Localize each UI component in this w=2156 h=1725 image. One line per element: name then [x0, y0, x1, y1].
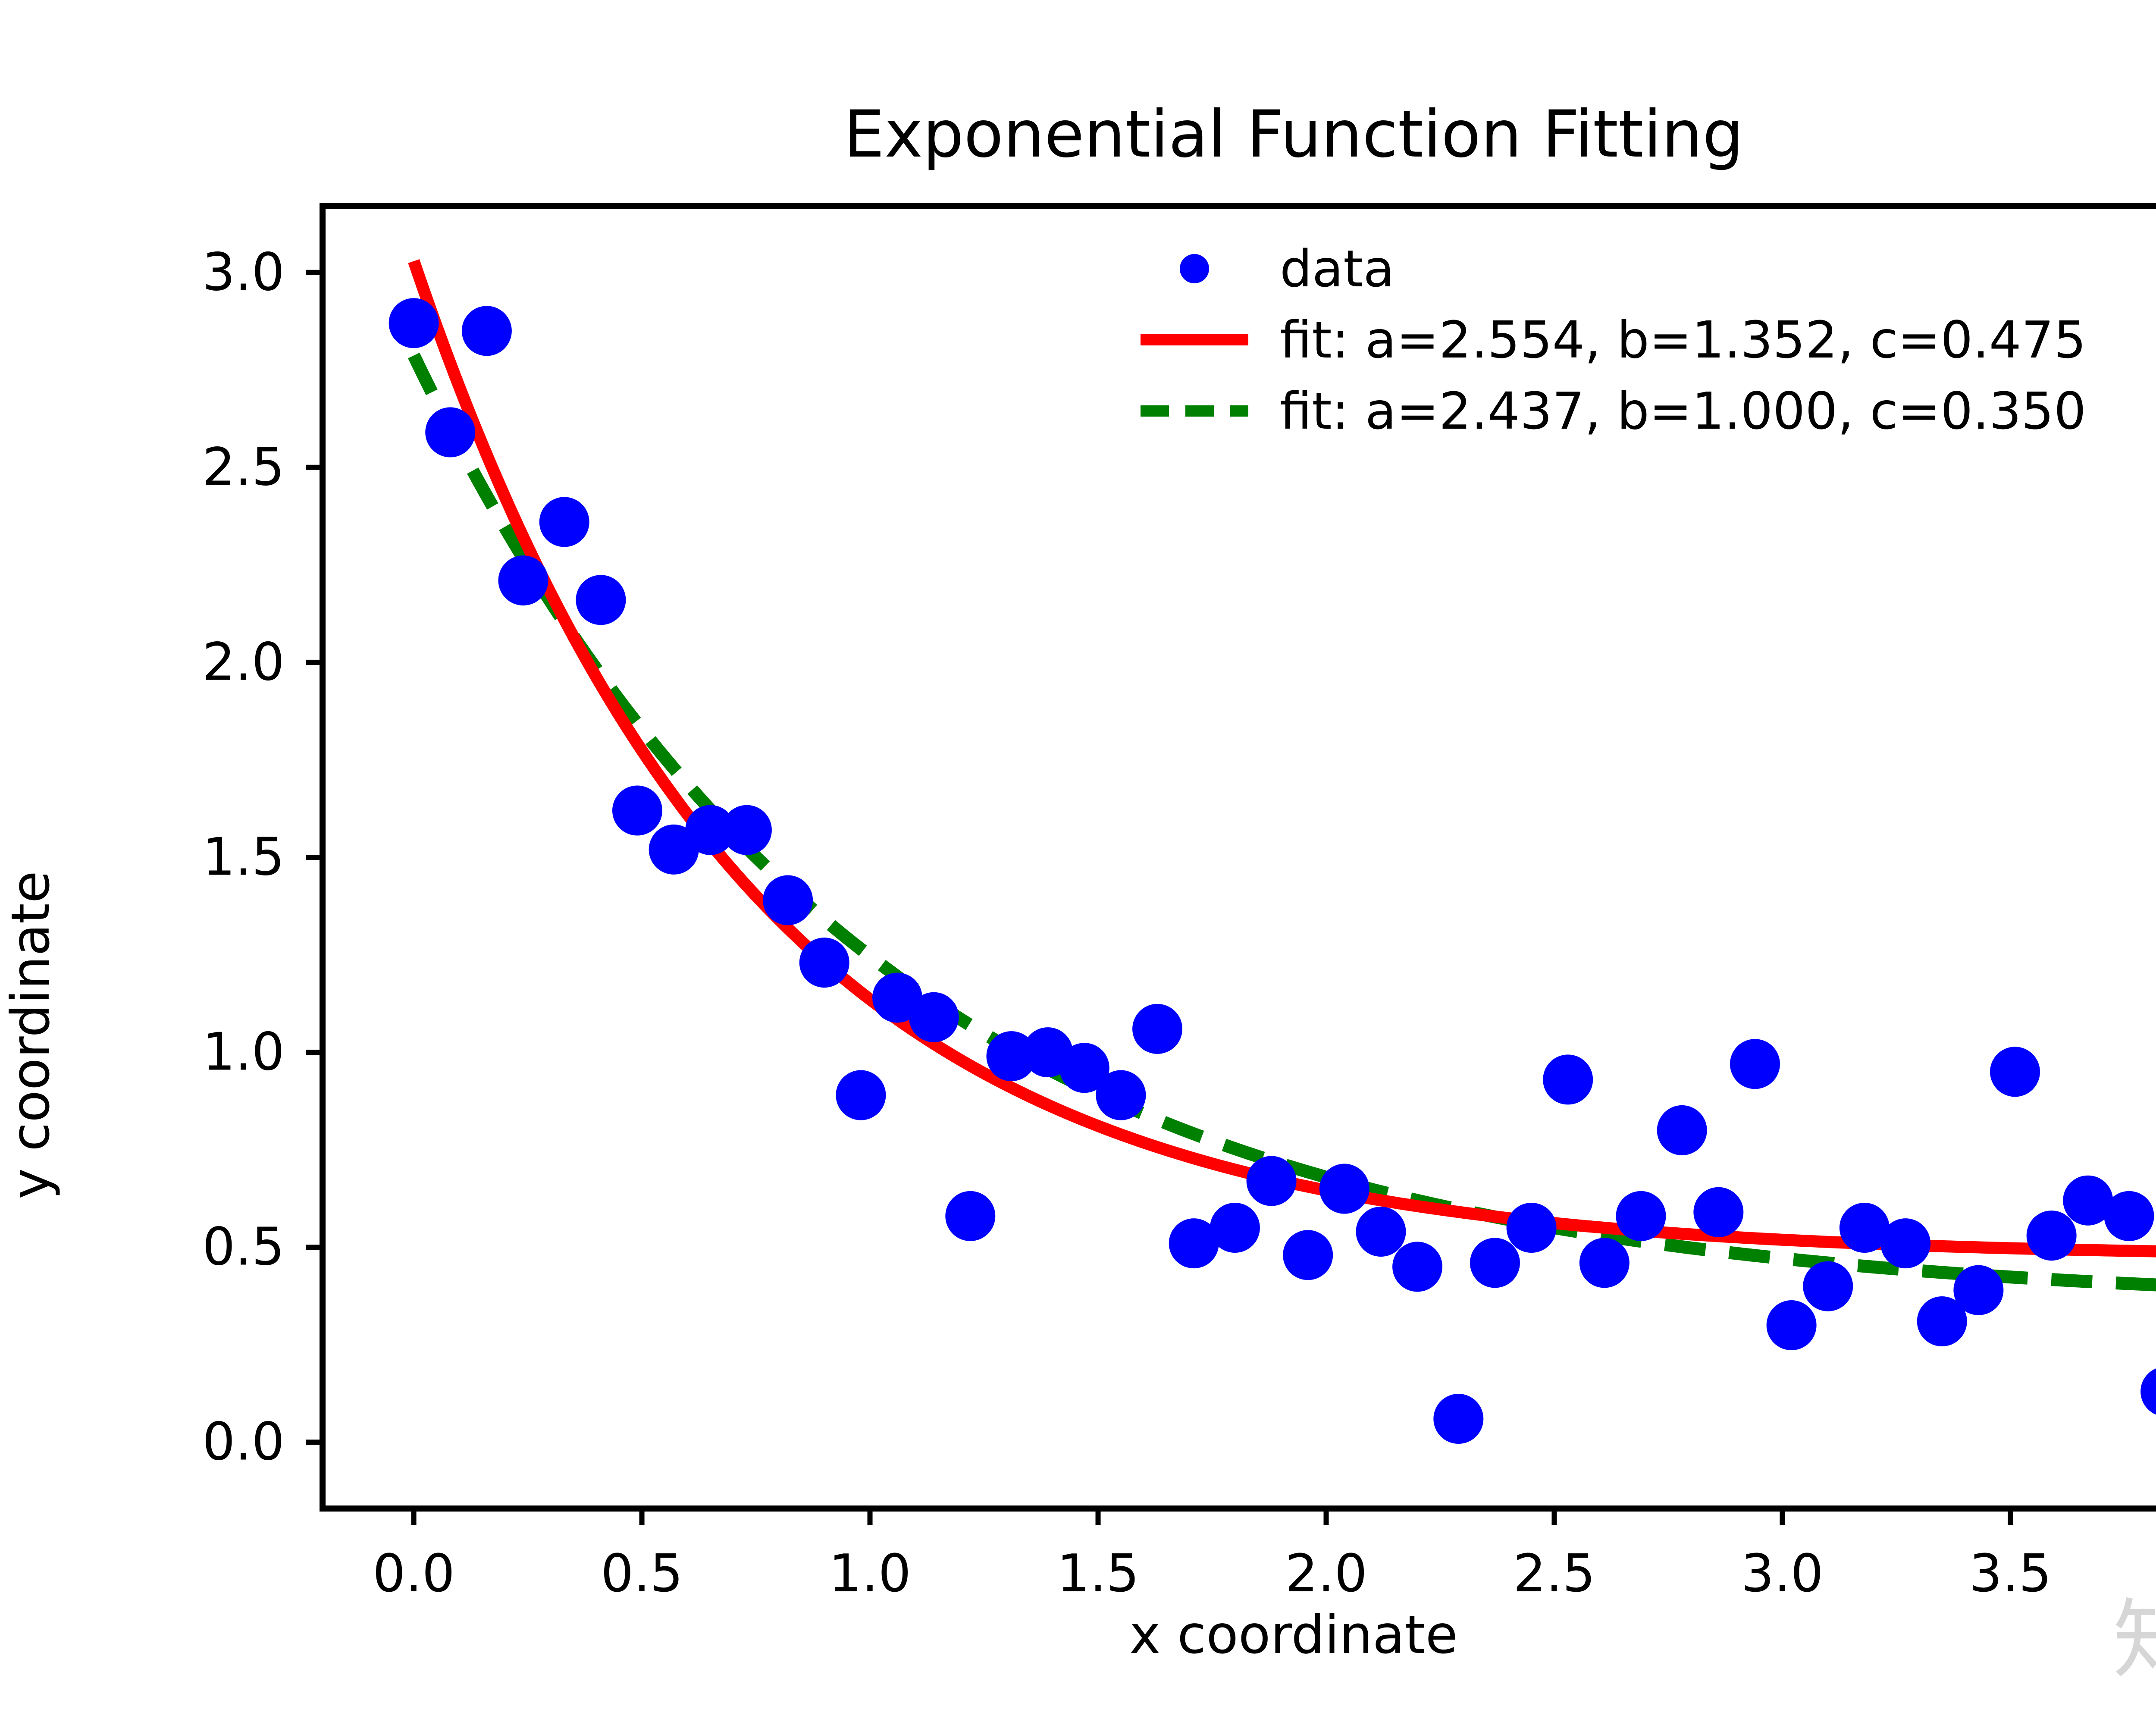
- legend-label-data: data: [1280, 239, 1395, 298]
- y-axis-label: y coordinate: [0, 733, 61, 1337]
- y-tick-label: 0.0: [202, 1412, 285, 1472]
- data-point: [1096, 1070, 1146, 1120]
- legend-label-fit-green: fit: a=2.437, b=1.000, c=0.350: [1280, 381, 2086, 441]
- legend-marker-dot-icon: [1130, 247, 1259, 290]
- y-tick-label: 2.0: [202, 632, 285, 692]
- data-point: [539, 497, 589, 547]
- data-point: [909, 992, 959, 1042]
- data-point: [763, 875, 813, 925]
- data-point: [836, 1070, 886, 1120]
- data-point: [1470, 1238, 1520, 1288]
- legend-line-dashed-icon: [1130, 389, 1259, 433]
- data-point: [1392, 1242, 1442, 1292]
- y-tick-label: 0.5: [202, 1217, 285, 1277]
- data-point: [1132, 1004, 1182, 1054]
- x-tick-label: 1.0: [829, 1544, 911, 1604]
- data-point: [1616, 1191, 1666, 1241]
- y-tick-label: 2.5: [202, 437, 285, 497]
- data-point: [1953, 1265, 2003, 1315]
- data-point: [576, 575, 626, 625]
- watermark: 知乎 @Y TU: [2113, 1570, 2156, 1695]
- data-point: [1990, 1047, 2040, 1097]
- data-point: [1579, 1238, 1630, 1288]
- data-point: [462, 306, 512, 356]
- legend-item-fit-green[interactable]: fit: a=2.437, b=1.000, c=0.350: [1130, 375, 2156, 446]
- data-point: [1767, 1300, 1817, 1350]
- data-point: [1433, 1394, 1483, 1444]
- data-point: [612, 786, 662, 836]
- data-point: [1693, 1187, 1743, 1237]
- x-tick-label: 2.0: [1285, 1544, 1367, 1604]
- legend-item-data[interactable]: data: [1130, 233, 2156, 304]
- data-point: [498, 555, 548, 605]
- data-point: [1356, 1207, 1406, 1257]
- data-point: [945, 1191, 995, 1241]
- x-tick-label: 1.5: [1057, 1544, 1139, 1604]
- x-tick-label: 0.0: [373, 1544, 455, 1604]
- data-point: [1543, 1054, 1593, 1104]
- data-point: [1657, 1105, 1707, 1155]
- y-tick-label: 1.0: [202, 1022, 285, 1082]
- data-point: [2027, 1211, 2077, 1261]
- y-tick-label: 1.5: [202, 828, 285, 888]
- data-point: [389, 298, 439, 348]
- data-point: [722, 805, 772, 855]
- data-point: [1880, 1218, 1930, 1268]
- x-tick-label: 0.5: [601, 1544, 683, 1604]
- legend: data fit: a=2.554, b=1.352, c=0.475 fit:…: [1130, 233, 2156, 446]
- y-tick-label: 3.0: [202, 242, 285, 302]
- data-point: [1730, 1039, 1780, 1089]
- data-point: [2104, 1191, 2154, 1241]
- data-point: [425, 407, 475, 457]
- legend-label-fit-red: fit: a=2.554, b=1.352, c=0.475: [1280, 310, 2086, 370]
- data-point: [1319, 1164, 1369, 1214]
- x-axis-label: x coordinate: [0, 1604, 2156, 1665]
- data-point: [1803, 1261, 1853, 1311]
- data-point: [1247, 1156, 1297, 1206]
- data-point: [799, 938, 849, 988]
- figure-canvas: Exponential Function Fitting 0.00.51.01.…: [0, 0, 2156, 1725]
- x-tick-label: 2.5: [1513, 1544, 1595, 1604]
- x-tick-label: 3.0: [1741, 1544, 1824, 1604]
- data-point: [1507, 1203, 1557, 1253]
- data-point: [1210, 1203, 1260, 1253]
- data-point: [1283, 1230, 1333, 1280]
- x-tick-label: 3.5: [1969, 1544, 2052, 1604]
- legend-line-solid-icon: [1130, 318, 1259, 361]
- legend-item-fit-red[interactable]: fit: a=2.554, b=1.352, c=0.475: [1130, 304, 2156, 375]
